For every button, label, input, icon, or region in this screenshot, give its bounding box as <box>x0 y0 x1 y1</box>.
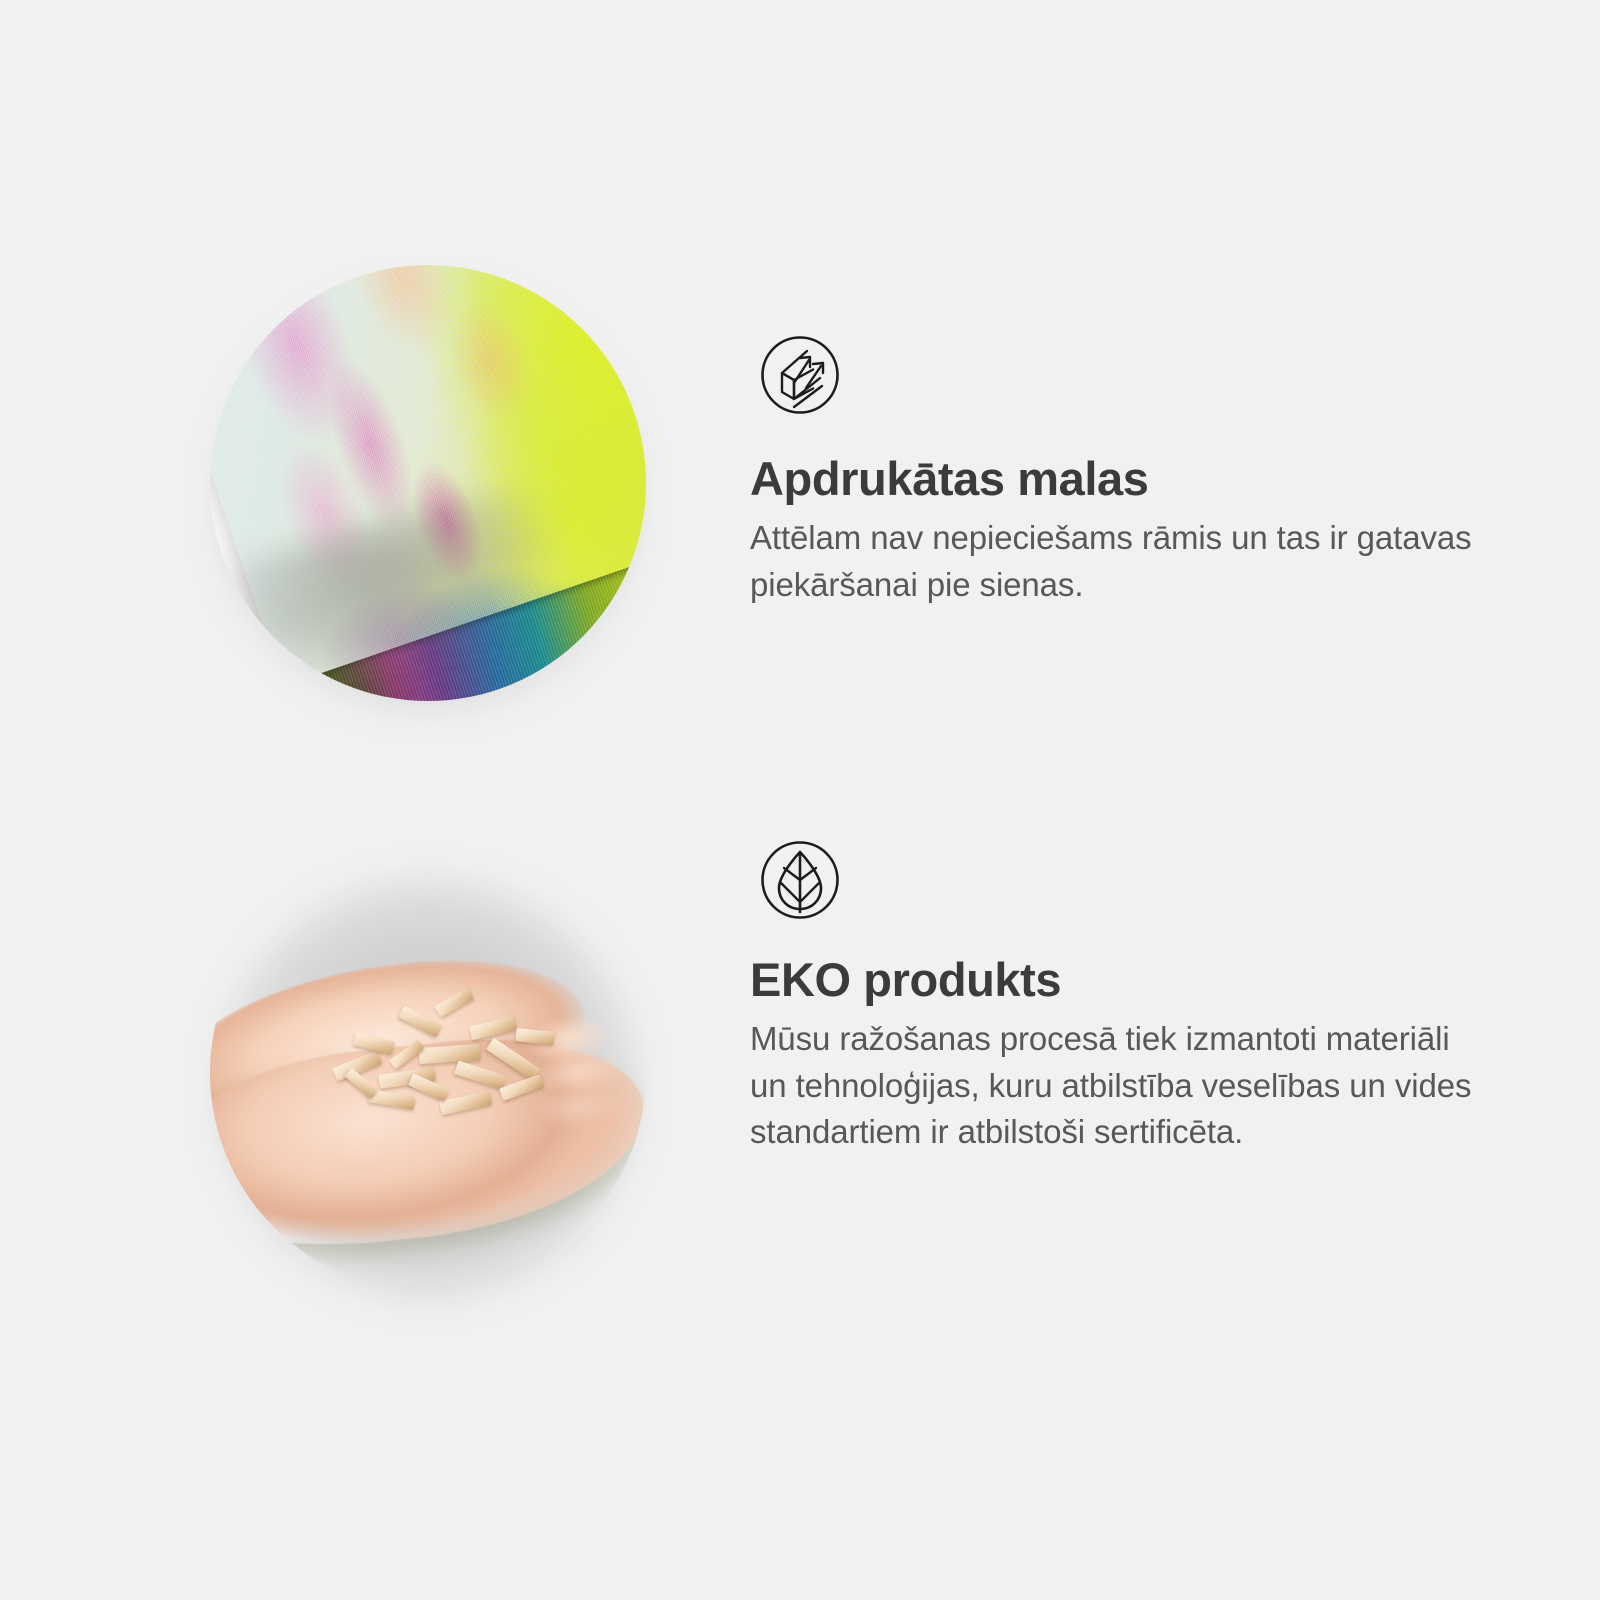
canvas-slab <box>210 265 646 701</box>
canvas-corner-photo <box>210 265 646 701</box>
feature-title: EKO produkts <box>750 954 1480 1006</box>
feature-block-printed-edges: Apdrukātas malas Attēlam nav nepieciešam… <box>0 240 1600 820</box>
leaf-icon <box>750 830 850 930</box>
eco-hands-photo <box>210 855 646 1291</box>
feature-title: Apdrukātas malas <box>750 453 1480 505</box>
feature-description: Mūsu ražošanas procesā tiek izmantoti ma… <box>750 1016 1475 1157</box>
product-features-page: Apdrukātas malas Attēlam nav nepieciešam… <box>0 0 1600 1600</box>
feature-block-eco-product: EKO produkts Mūsu ražošanas procesā tiek… <box>0 830 1600 1410</box>
media-circle-mask <box>210 855 646 1291</box>
wood-chip-pile <box>323 977 576 1134</box>
printed-edges-icon <box>750 325 850 425</box>
canvas-photo-scene <box>210 265 646 701</box>
eco-photo-scene <box>210 855 646 1291</box>
media-circle-mask <box>210 265 646 701</box>
feature-description: Attēlam nav nepieciešams rāmis un tas ir… <box>750 515 1475 609</box>
feature-text-column: Apdrukātas malas Attēlam nav nepieciešam… <box>750 325 1480 608</box>
feature-text-column: EKO produkts Mūsu ražošanas procesā tiek… <box>750 830 1480 1156</box>
